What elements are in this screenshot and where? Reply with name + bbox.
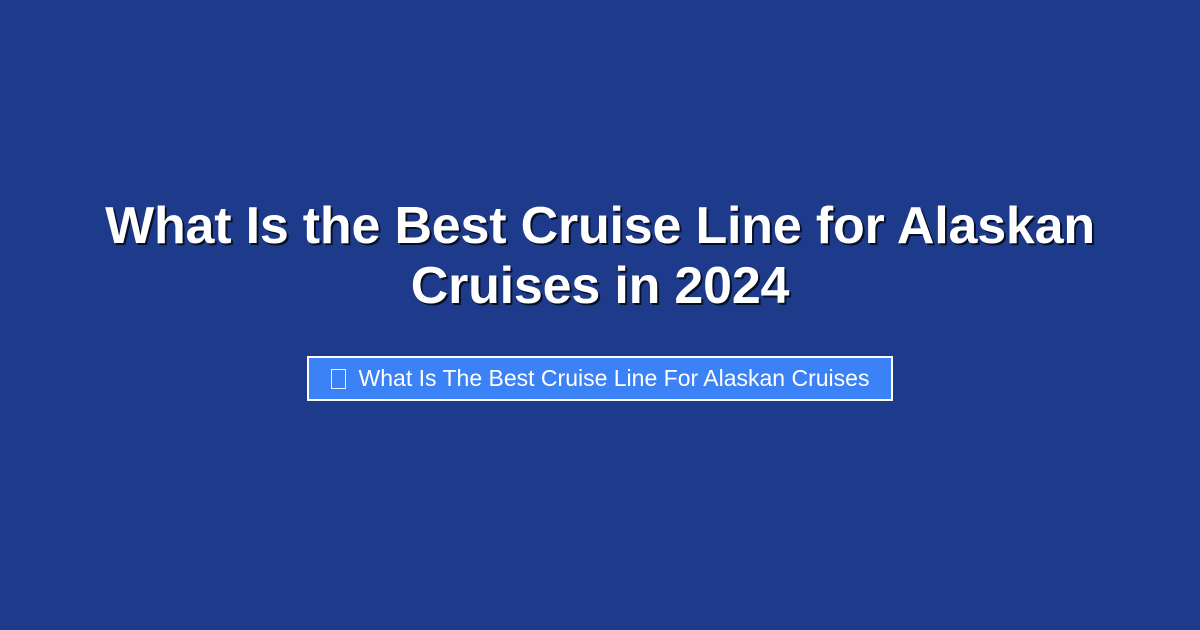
- cta-button-label: What Is The Best Cruise Line For Alaskan…: [359, 367, 870, 390]
- og-card: What Is the Best Cruise Line for Alaskan…: [0, 0, 1200, 630]
- missing-glyph-box-icon: [331, 369, 346, 389]
- cta-container: What Is The Best Cruise Line For Alaskan…: [40, 356, 1160, 401]
- page-title: What Is the Best Cruise Line for Alaskan…: [70, 196, 1130, 316]
- cruise-line-cta-button[interactable]: What Is The Best Cruise Line For Alaskan…: [307, 356, 894, 401]
- card-content: What Is the Best Cruise Line for Alaskan…: [40, 196, 1160, 401]
